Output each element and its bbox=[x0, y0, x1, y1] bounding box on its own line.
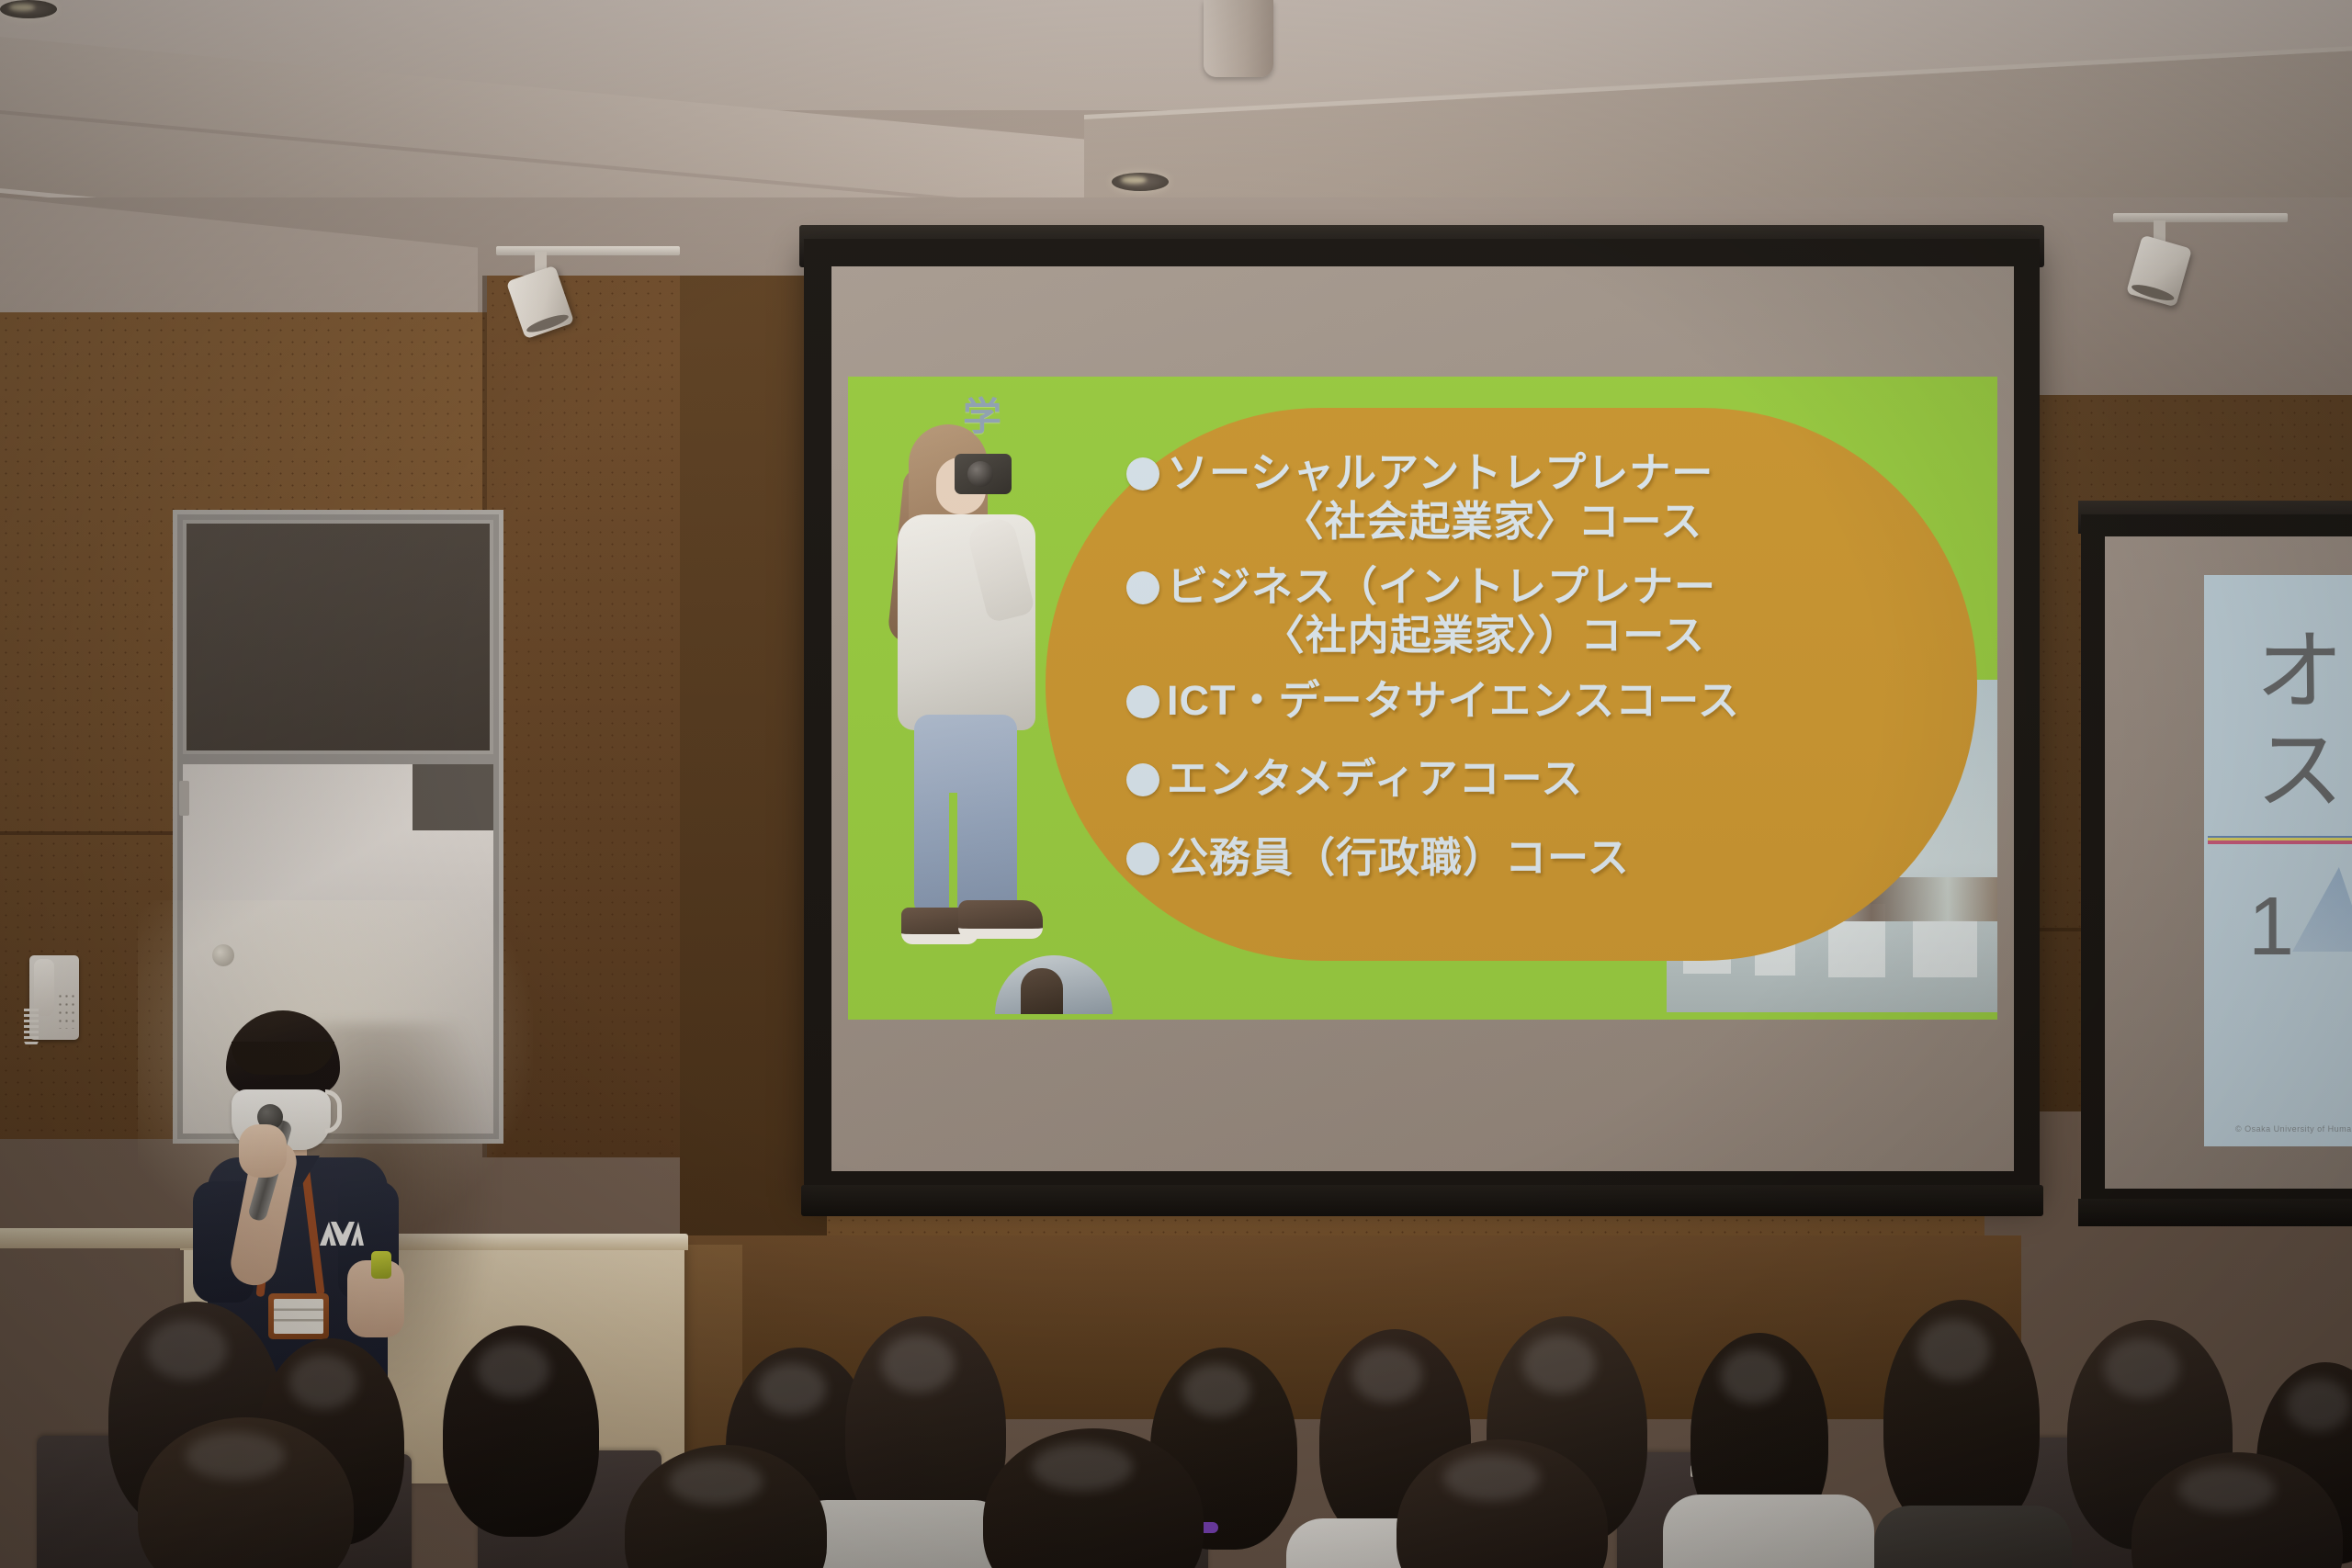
audience-head bbox=[1883, 1300, 2040, 1537]
side-slide-divider bbox=[2208, 836, 2352, 844]
audience-head bbox=[443, 1325, 599, 1537]
list-item-text: ソーシャルアントレプレナー 〈社会起業家〉コース bbox=[1167, 448, 1713, 546]
light-track-rail bbox=[2113, 213, 2288, 222]
audience-body bbox=[1663, 1495, 1874, 1568]
secondary-projection-screen: オ ス 1 © Osaka University of Human Scienc… bbox=[2081, 514, 2352, 1213]
audience-body bbox=[1874, 1506, 2072, 1568]
list-item: ビジネス（イントレプレナー 〈社内起業家〉）コース bbox=[1126, 562, 1939, 660]
projected-slide: 学 bbox=[848, 377, 1997, 1020]
telephone-keypad-icon bbox=[57, 992, 75, 1029]
side-screen-casing-bottom bbox=[2078, 1199, 2352, 1226]
downlight-icon bbox=[0, 0, 57, 18]
projection-surface: 学 bbox=[831, 266, 2014, 1171]
wall-telephone[interactable] bbox=[22, 955, 79, 1047]
light-track-rail bbox=[496, 246, 680, 255]
presentation-clicker bbox=[371, 1251, 391, 1279]
telephone-handset-icon bbox=[34, 959, 54, 1016]
telephone-cord-icon bbox=[24, 1009, 39, 1047]
bullet-dot-icon bbox=[1126, 842, 1159, 875]
presenter-hand bbox=[239, 1124, 287, 1178]
downlight-icon bbox=[1112, 173, 1169, 191]
bullet-dot-icon bbox=[1126, 457, 1159, 491]
bullet-dot-icon bbox=[1126, 763, 1159, 796]
list-item: ICT・データサイエンスコース bbox=[1126, 676, 1939, 725]
side-slide-number: 1 bbox=[2248, 880, 2294, 975]
door-knob-icon[interactable] bbox=[212, 944, 234, 966]
side-slide-graphic bbox=[2292, 867, 2352, 952]
door-transom-window bbox=[183, 520, 493, 754]
door-panel-shade bbox=[413, 764, 493, 830]
student-with-camera-photo bbox=[888, 412, 1058, 981]
side-slide-footer: © Osaka University of Human Sciences bbox=[2235, 1124, 2352, 1134]
list-item: 公務員（行政職）コース bbox=[1126, 833, 1939, 882]
ceiling-speaker-icon bbox=[1204, 0, 1273, 77]
list-item: エンタメディアコース bbox=[1126, 754, 1939, 803]
course-list-panel: ソーシャルアントレプレナー 〈社会起業家〉コース ビジネス（イントレプレナー 〈… bbox=[1046, 408, 1977, 961]
university-logo bbox=[318, 1218, 366, 1249]
list-item: ソーシャルアントレプレナー 〈社会起業家〉コース bbox=[1126, 448, 1939, 546]
camera-icon bbox=[955, 454, 1012, 494]
side-projection-surface: オ ス 1 © Osaka University of Human Scienc… bbox=[2105, 536, 2352, 1189]
course-list: ソーシャルアントレプレナー 〈社会起業家〉コース ビジネス（イントレプレナー 〈… bbox=[1126, 448, 1939, 887]
list-item-text: ICT・データサイエンスコース bbox=[1167, 676, 1740, 725]
side-projected-slide: オ ス 1 © Osaka University of Human Scienc… bbox=[2204, 575, 2352, 1146]
seated-audience bbox=[0, 1281, 2352, 1568]
bullet-dot-icon bbox=[1126, 571, 1159, 604]
bullet-dot-icon bbox=[1126, 685, 1159, 718]
wood-acoustic-panel bbox=[487, 276, 680, 1157]
lecture-hall-scene: 学 bbox=[0, 0, 2352, 1568]
list-item-text: ビジネス（イントレプレナー 〈社内起業家〉）コース bbox=[1167, 562, 1716, 660]
list-item-text: エンタメディアコース bbox=[1167, 754, 1583, 803]
screen-casing-bottom bbox=[801, 1185, 2043, 1216]
list-item-text: 公務員（行政職）コース bbox=[1167, 833, 1630, 882]
stage-lip bbox=[0, 1228, 195, 1248]
main-projection-screen: 学 bbox=[804, 239, 2040, 1199]
door-hinge-icon bbox=[179, 781, 189, 816]
side-slide-kana: オ ス bbox=[2256, 623, 2346, 820]
